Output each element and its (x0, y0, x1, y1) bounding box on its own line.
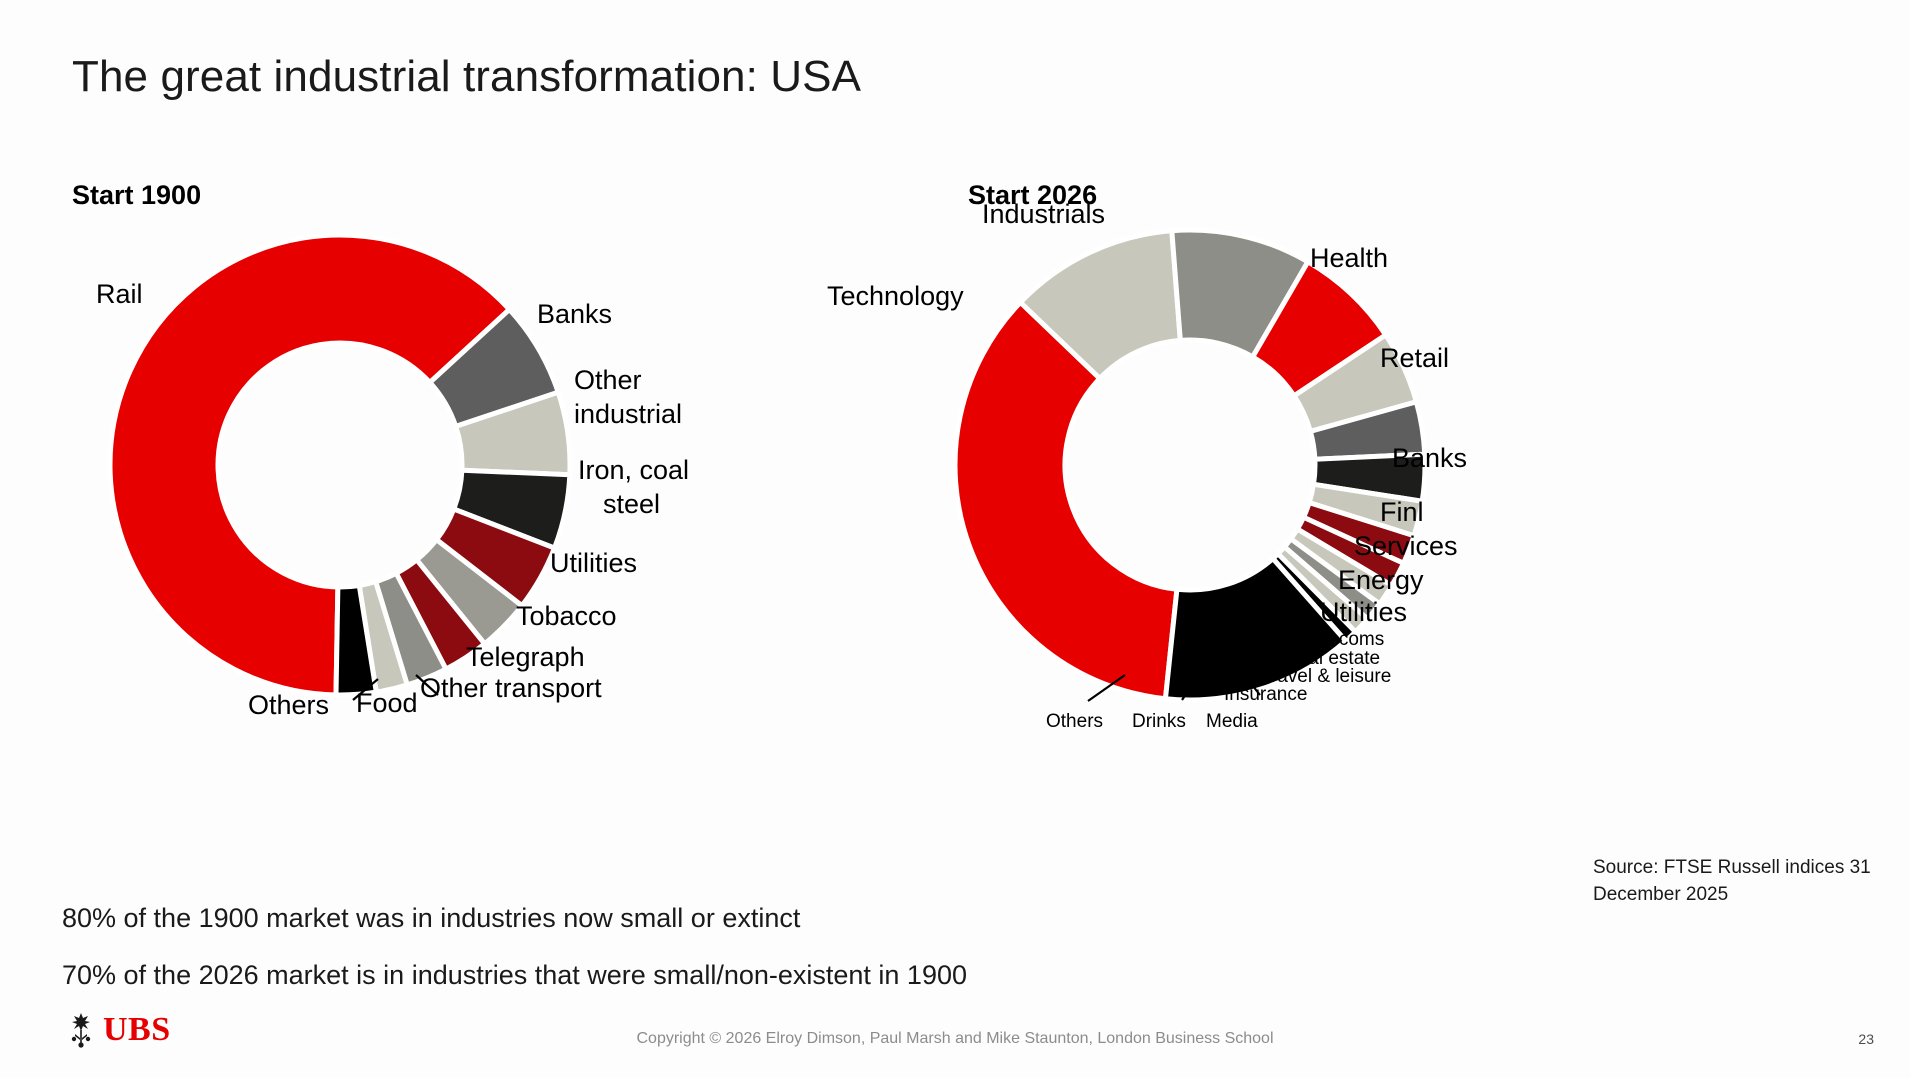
footer-copyright: Copyright © 2026 Elroy Dimson, Paul Mars… (0, 1030, 1910, 1048)
statement-1900: 80% of the 1900 market was in industries… (62, 903, 800, 934)
donut-chart-2026: Technology Industrials Health Retail Ban… (960, 195, 1800, 735)
label-telegraph: Telegraph (466, 642, 585, 672)
source-note: Source: FTSE Russell indices 31 December… (1593, 855, 1873, 909)
label-banks: Banks (537, 299, 612, 329)
donut-svg-1900: Rail Banks Other industrial Iron, coal s… (60, 195, 890, 725)
donut-chart-1900: Rail Banks Other industrial Iron, coal s… (60, 195, 890, 725)
page-title: The great industrial transformation: USA (72, 52, 861, 102)
label-food: Food (356, 688, 418, 718)
label-insurance: Insurance (1224, 684, 1307, 705)
label-iron-1: Iron, coal (578, 455, 689, 485)
label-drinks: Drinks (1132, 711, 1186, 732)
label-utilities: Utilities (550, 548, 637, 578)
label-others-2026: Others (1046, 711, 1103, 732)
label-iron-2: steel (603, 489, 660, 519)
page-number: 23 (1858, 1031, 1874, 1047)
label-banks-2026: Banks (1392, 443, 1467, 473)
label-technology: Technology (827, 281, 964, 311)
donut-segment[interactable] (955, 302, 1177, 698)
label-tobacco: Tobacco (516, 601, 617, 631)
label-health: Health (1310, 243, 1388, 273)
label-other-industrial-1: Other (574, 365, 642, 395)
slide-canvas: The great industrial transformation: USA… (0, 0, 1910, 1078)
label-rail: Rail (96, 279, 143, 309)
label-media: Media (1206, 711, 1258, 732)
label-retail: Retail (1380, 343, 1449, 373)
label-finl: Finl (1380, 497, 1424, 527)
donut-segments-1900[interactable] (110, 235, 570, 695)
label-telecoms: Telecoms (1304, 629, 1384, 650)
donut-svg-2026: Technology Industrials Health Retail Ban… (960, 195, 1800, 735)
label-other-transport: Other transport (420, 673, 602, 703)
label-others: Others (248, 690, 329, 720)
label-utilities-2026: Utilities (1320, 597, 1407, 627)
label-energy: Energy (1338, 565, 1424, 595)
statement-2026: 70% of the 2026 market is in industries … (62, 960, 967, 991)
label-industrials: Industrials (982, 199, 1105, 229)
label-other-industrial-2: industrial (574, 399, 682, 429)
label-services: Services (1354, 531, 1458, 561)
